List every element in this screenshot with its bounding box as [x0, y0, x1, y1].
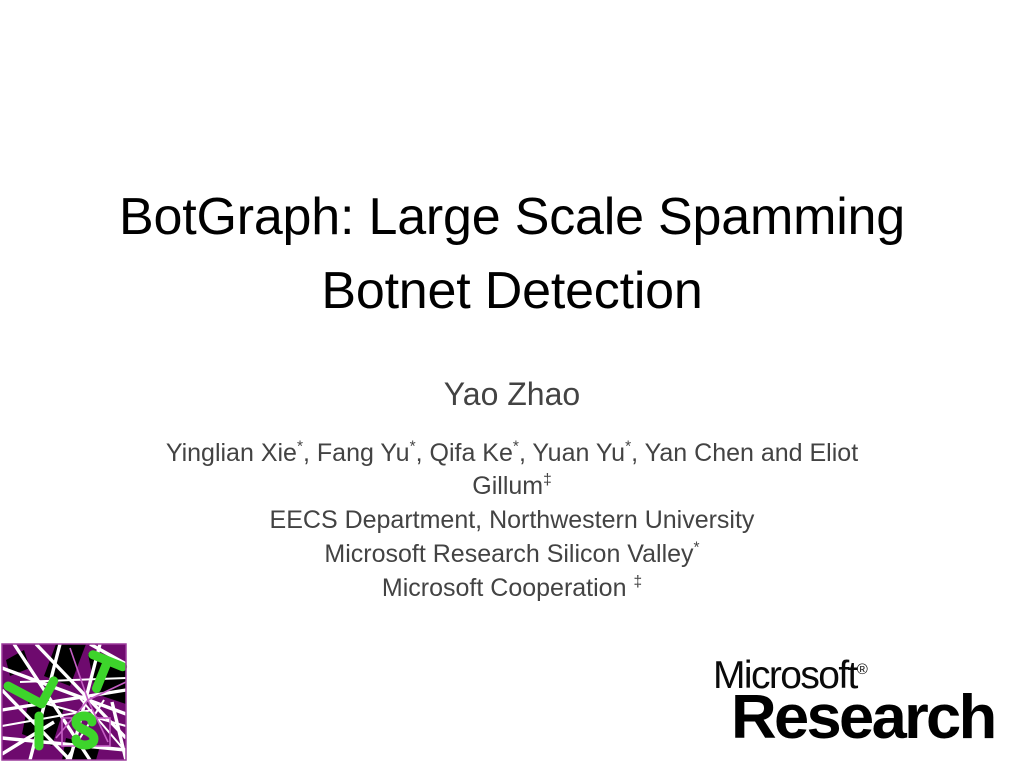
affiliation-1: EECS Department, Northwestern University — [112, 503, 912, 537]
author-name-4: , Yuan Yu — [519, 439, 625, 467]
affiliation-3-mark: ‡ — [633, 574, 642, 591]
registered-trademark-icon: ® — [857, 661, 868, 678]
author-list: Yinglian Xie*, Fang Yu*, Qifa Ke*, Yuan … — [112, 437, 912, 470]
title-line-2: Botnet Detection — [62, 254, 962, 328]
affiliation-2-text: Microsoft Research Silicon Valley — [324, 540, 693, 568]
presenter-name: Yao Zhao — [62, 374, 962, 414]
logo-letter-s — [76, 716, 94, 745]
presenter: Yao Zhao — [62, 374, 962, 414]
author-name-2: , Fang Yu — [303, 439, 410, 467]
author-name-6: Gillum — [472, 472, 543, 500]
affiliation-2-mark: * — [694, 540, 700, 557]
microsoft-research-logo: Microsoft® Research — [705, 655, 1020, 745]
affiliation-3: Microsoft Cooperation ‡ — [112, 571, 912, 605]
title-line-1: BotGraph: Large Scale Spamming — [62, 180, 962, 254]
slide-title: BotGraph: Large Scale Spamming Botnet De… — [62, 180, 962, 328]
author-mark-6: ‡ — [543, 472, 552, 489]
author-name-5: , Yan Chen and Eliot — [631, 439, 858, 467]
author-list-wrap: Gillum‡ — [112, 470, 912, 503]
research-wordmark: Research — [731, 685, 995, 751]
list-lab-logo — [0, 642, 129, 762]
affiliation-2: Microsoft Research Silicon Valley* — [112, 537, 912, 571]
affiliation-1-text: EECS Department, Northwestern University — [270, 506, 755, 534]
affiliation-3-text: Microsoft Cooperation — [382, 574, 634, 602]
author-name-1: Yinglian Xie — [166, 439, 297, 467]
author-name-3: , Qifa Ke — [416, 439, 513, 467]
authors-and-affiliations: Yinglian Xie*, Fang Yu*, Qifa Ke*, Yuan … — [112, 437, 912, 605]
presentation-slide: BotGraph: Large Scale Spamming Botnet De… — [0, 0, 1024, 768]
list-logo-graphic — [0, 642, 129, 762]
